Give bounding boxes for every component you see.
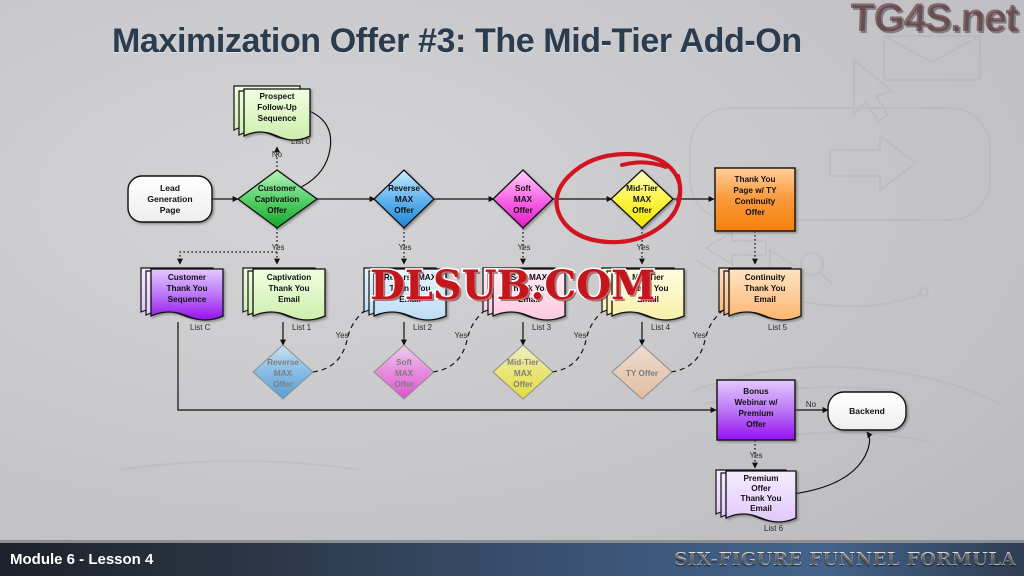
svg-text:Thank You: Thank You xyxy=(508,284,549,293)
node-mid-tier-max-offer[interactable]: Mid-Tier MAX Offer xyxy=(611,170,673,228)
svg-text:Mid-Tier: Mid-Tier xyxy=(632,273,665,282)
svg-text:Sequence: Sequence xyxy=(168,295,207,304)
svg-text:Offer: Offer xyxy=(745,208,765,217)
svg-text:Reverse MAX: Reverse MAX xyxy=(384,273,437,282)
node-captivation-thank-you-email[interactable]: Captivation Thank You Email List 1 xyxy=(243,268,325,332)
svg-text:Premium: Premium xyxy=(738,409,773,418)
svg-text:Yes: Yes xyxy=(517,243,530,252)
node-lead-generation-page[interactable]: Lead Generation Page xyxy=(128,176,212,222)
node-thank-you-page-ty-continuity-offer[interactable]: Thank You Page w/ TY Continuity Offer xyxy=(715,168,795,231)
svg-text:Reverse: Reverse xyxy=(388,184,420,193)
svg-text:Yes: Yes xyxy=(454,331,467,340)
svg-text:Offer: Offer xyxy=(746,420,766,429)
footer-brand: SIX-FIGURE FUNNEL FORMULA xyxy=(674,549,1024,570)
svg-text:Email: Email xyxy=(754,295,776,304)
svg-text:Soft: Soft xyxy=(396,358,412,367)
svg-text:List 5: List 5 xyxy=(768,323,788,332)
svg-text:Reverse: Reverse xyxy=(267,358,299,367)
svg-text:List 3: List 3 xyxy=(532,323,552,332)
svg-text:Yes: Yes xyxy=(271,243,284,252)
svg-text:Follow-Up: Follow-Up xyxy=(257,103,297,112)
svg-text:Webinar w/: Webinar w/ xyxy=(734,398,778,407)
svg-text:Sequence: Sequence xyxy=(258,114,297,123)
svg-text:Generation: Generation xyxy=(147,194,192,204)
svg-text:List 6: List 6 xyxy=(764,524,784,533)
node-ghost-ty-offer[interactable]: TY Offer xyxy=(612,345,672,399)
svg-text:Captivation: Captivation xyxy=(267,273,312,282)
funnel-flowchart: No List 0 Yes Yes Yes Yes Yes Yes Yes Ye… xyxy=(0,0,1024,576)
svg-text:MAX: MAX xyxy=(633,195,652,204)
node-soft-max-offer[interactable]: Soft MAX Offer xyxy=(493,170,553,228)
svg-text:No: No xyxy=(272,150,283,159)
svg-text:Lead: Lead xyxy=(160,183,180,193)
node-ghost-reverse-max-offer[interactable]: Reverse MAX Offer xyxy=(253,345,313,399)
svg-text:Page w/ TY: Page w/ TY xyxy=(733,186,777,195)
svg-text:Email: Email xyxy=(637,295,659,304)
svg-text:Continuity: Continuity xyxy=(735,197,776,206)
svg-text:MAX: MAX xyxy=(514,195,533,204)
svg-text:TY Offer: TY Offer xyxy=(626,369,659,378)
svg-text:Yes: Yes xyxy=(335,331,348,340)
node-reverse-max-offer[interactable]: Reverse MAX Offer xyxy=(374,170,434,228)
svg-text:Page: Page xyxy=(160,205,181,215)
svg-text:Email: Email xyxy=(518,295,540,304)
svg-text:Offer: Offer xyxy=(394,380,414,389)
svg-text:Offer: Offer xyxy=(273,380,293,389)
svg-text:Bonus: Bonus xyxy=(743,387,769,396)
svg-text:Yes: Yes xyxy=(573,331,586,340)
svg-text:Offer: Offer xyxy=(632,206,652,215)
svg-text:Backend: Backend xyxy=(849,406,885,416)
svg-text:MAX: MAX xyxy=(395,195,414,204)
svg-text:MAX: MAX xyxy=(274,369,293,378)
svg-text:List 2: List 2 xyxy=(413,323,433,332)
svg-text:Thank You: Thank You xyxy=(734,175,775,184)
svg-text:Continuity: Continuity xyxy=(745,273,786,282)
svg-text:List 1: List 1 xyxy=(292,323,312,332)
svg-text:List C: List C xyxy=(190,323,211,332)
svg-text:Mid-Tier: Mid-Tier xyxy=(626,184,659,193)
svg-text:Customer: Customer xyxy=(168,273,207,282)
svg-text:Offer: Offer xyxy=(513,380,533,389)
svg-text:Prospect: Prospect xyxy=(259,92,294,101)
svg-text:MAX: MAX xyxy=(395,369,414,378)
svg-text:Offer: Offer xyxy=(267,206,287,215)
svg-text:Mid-Tier: Mid-Tier xyxy=(507,358,540,367)
svg-text:Offer: Offer xyxy=(513,206,533,215)
svg-text:Thank You: Thank You xyxy=(268,284,309,293)
svg-text:List 4: List 4 xyxy=(651,323,671,332)
svg-text:Yes: Yes xyxy=(636,243,649,252)
svg-text:Yes: Yes xyxy=(749,451,762,460)
node-bonus-webinar-premium-offer[interactable]: Bonus Webinar w/ Premium Offer xyxy=(717,380,795,440)
svg-text:Customer: Customer xyxy=(258,184,297,193)
svg-text:Premium: Premium xyxy=(743,474,778,483)
svg-text:Yes: Yes xyxy=(692,331,705,340)
svg-text:Offer: Offer xyxy=(394,206,414,215)
node-backend[interactable]: Backend xyxy=(828,392,906,430)
node-soft-max-thank-you-email[interactable]: Soft MAX Thank You Email List 3 xyxy=(483,268,565,332)
svg-text:Captivation: Captivation xyxy=(255,195,300,204)
svg-text:Email: Email xyxy=(278,295,300,304)
node-mid-tier-thank-you-email[interactable]: Mid-Tier Thank You Email List 4 xyxy=(602,268,684,332)
svg-text:Thank You: Thank You xyxy=(740,494,781,503)
node-ghost-mid-tier-max-offer[interactable]: Mid-Tier MAX Offer xyxy=(493,345,553,399)
node-prospect-follow-up-sequence[interactable]: Prospect Follow-Up Sequence xyxy=(234,86,310,140)
svg-text:Thank You: Thank You xyxy=(389,284,430,293)
footer-module-lesson: Module 6 - Lesson 4 xyxy=(0,551,153,568)
node-reverse-max-thank-you-email[interactable]: Reverse MAX Thank You Email List 2 xyxy=(364,268,446,332)
svg-text:Thank You: Thank You xyxy=(627,284,668,293)
svg-text:Yes: Yes xyxy=(398,243,411,252)
node-premium-offer-thank-you-email[interactable]: Premium Offer Thank You Email List 6 xyxy=(716,470,796,533)
svg-text:Thank You: Thank You xyxy=(166,284,207,293)
svg-text:Soft MAX: Soft MAX xyxy=(511,273,548,282)
footer-bar: Module 6 - Lesson 4 SIX-FIGURE FUNNEL FO… xyxy=(0,540,1024,576)
page-title: Maximization Offer #3: The Mid-Tier Add-… xyxy=(112,22,802,61)
svg-text:Offer: Offer xyxy=(751,484,771,493)
svg-text:Soft: Soft xyxy=(515,184,531,193)
svg-text:Email: Email xyxy=(399,295,421,304)
svg-text:Thank You: Thank You xyxy=(744,284,785,293)
node-ghost-soft-max-offer[interactable]: Soft MAX Offer xyxy=(374,345,434,399)
node-continuity-thank-you-email[interactable]: Continuity Thank You Email List 5 xyxy=(719,268,801,332)
svg-text:Email: Email xyxy=(750,504,772,513)
node-customer-thank-you-sequence[interactable]: Customer Thank You Sequence List C xyxy=(141,268,223,332)
svg-text:No: No xyxy=(806,400,817,409)
node-customer-captivation-offer[interactable]: Customer Captivation Offer xyxy=(238,170,317,228)
svg-text:MAX: MAX xyxy=(514,369,533,378)
